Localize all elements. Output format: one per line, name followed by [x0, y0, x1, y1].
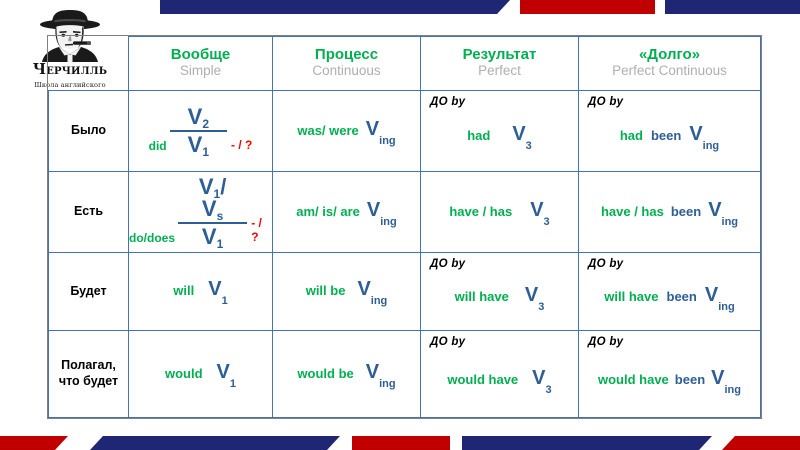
decorative-banner-bottom — [0, 436, 800, 450]
verb-sub-ing: ing — [703, 140, 720, 152]
cell-past-continuous: was/ were Ving — [273, 90, 421, 171]
by-marker: ДО by — [430, 258, 465, 270]
verb-v: V — [689, 123, 702, 145]
cell-present-perfect: have / has V3 — [421, 172, 579, 253]
header-cell-simple: Вообще Simple — [129, 37, 273, 91]
verb-v1: V — [188, 132, 203, 157]
cell-present-continuous: am/ is/ are Ving — [273, 172, 421, 253]
verb-v2: V — [188, 104, 203, 129]
verb-vs-sub: s — [217, 209, 224, 223]
aux-been: been — [667, 289, 697, 304]
cell-future-perfect: ДО by will have V3 — [421, 253, 579, 330]
header-ru-continuous: Процесс — [273, 47, 420, 63]
row-label-present: Есть — [49, 172, 129, 253]
by-marker: ДО by — [588, 258, 623, 270]
table-header-row: Вообще Simple Процесс Continuous Результ… — [49, 37, 761, 91]
aux-had: had — [620, 128, 643, 143]
by-marker: ДО by — [588, 336, 623, 348]
aux-would: would — [165, 366, 203, 381]
banner-band-red-2 — [0, 436, 68, 450]
banner-band-navy-4 — [462, 436, 712, 450]
header-ru-simple: Вообще — [129, 47, 272, 63]
cell-future-in-past-continuous: would be Ving — [273, 330, 421, 417]
banner-band-red-1 — [520, 0, 655, 14]
aux-been: been — [651, 128, 681, 143]
verb-v: V — [530, 199, 543, 221]
cell-past-simple: did V2 V1 - / ? — [129, 90, 273, 171]
verb-sub-ing: ing — [718, 301, 735, 313]
table-row: Будет will V1 will be Ving ДО by will ha… — [49, 253, 761, 330]
verb-sub-ing: ing — [379, 378, 396, 390]
aux-will-have: will have — [604, 289, 658, 304]
cell-future-simple: will V1 — [129, 253, 273, 330]
verb-sub-1: 1 — [230, 378, 236, 390]
header-en-perfect: Perfect — [421, 63, 578, 80]
cell-past-perfect: ДО by had V3 — [421, 90, 579, 171]
verb-v1-sub: 1 — [214, 187, 221, 201]
header-en-perfect-continuous: Perfect Continuous — [579, 63, 760, 80]
cell-present-simple: do/does V1/ Vs V1 - / ? — [129, 172, 273, 253]
aux-have-has: have / has — [601, 204, 664, 219]
verb-sub-3: 3 — [538, 301, 544, 313]
aux-been: been — [675, 372, 705, 387]
verb-v: V — [708, 199, 721, 221]
verb-v: V — [711, 367, 724, 389]
verb-v: V — [366, 361, 379, 383]
cell-present-perfect-continuous: have / has been Ving — [579, 172, 761, 253]
aux-will-have: will have — [455, 289, 509, 304]
verb-sub-ing: ing — [724, 384, 741, 396]
by-marker: ДО by — [430, 336, 465, 348]
neg-question-marker: - / ? — [251, 216, 272, 244]
aux-would-have: would have — [447, 372, 518, 387]
by-marker: ДО by — [588, 96, 623, 108]
cell-future-in-past-simple: would V1 — [129, 330, 273, 417]
neg-question-marker: - / ? — [231, 138, 252, 152]
table-row: Полагал, что будет would V1 would be Vin… — [49, 330, 761, 417]
verb-v: V — [367, 199, 380, 221]
cell-future-continuous: will be Ving — [273, 253, 421, 330]
verb-sub-ing: ing — [379, 135, 396, 147]
verb-v: V — [366, 118, 379, 140]
row-label-future: Будет — [49, 253, 129, 330]
tense-reference-table: Вообще Simple Процесс Continuous Результ… — [48, 36, 761, 418]
header-en-simple: Simple — [129, 63, 272, 80]
aux-would-be: would be — [297, 366, 353, 381]
verb-v: V — [525, 284, 538, 306]
cell-future-in-past-perfect: ДО by would have V3 — [421, 330, 579, 417]
banner-band-navy-2 — [665, 0, 800, 14]
verb-v: V — [357, 278, 370, 300]
banner-band-red-3 — [352, 436, 450, 450]
aux-been: been — [671, 204, 701, 219]
aux-am-is-are: am/ is/ are — [296, 204, 360, 219]
verb-sub-3: 3 — [526, 140, 532, 152]
verb-v: V — [532, 367, 545, 389]
aux-will: will — [173, 283, 194, 298]
verb-sub-1: 1 — [222, 295, 228, 307]
aux-was-were: was/ were — [297, 123, 358, 138]
header-ru-perfect: Результат — [421, 47, 578, 63]
verb-sub-ing: ing — [380, 216, 397, 228]
header-cell-perfect: Результат Perfect — [421, 37, 579, 91]
header-cell-continuous: Процесс Continuous — [273, 37, 421, 91]
cell-past-perfect-continuous: ДО by had been Ving — [579, 90, 761, 171]
verb-sub-3: 3 — [546, 384, 552, 396]
aux-had: had — [467, 128, 490, 143]
row-label-future-in-past: Полагал, что будет — [49, 330, 129, 417]
banner-band-navy-1 — [160, 0, 510, 14]
row-label-past: Было — [49, 90, 129, 171]
cell-future-perfect-continuous: ДО by will have been Ving — [579, 253, 761, 330]
verb-v1: V — [202, 224, 217, 249]
row-label-line1: Полагал, — [61, 358, 116, 372]
verb-sub-3: 3 — [544, 216, 550, 228]
banner-band-red-4 — [722, 436, 800, 450]
header-ru-perfect-continuous: «Долго» — [579, 47, 760, 63]
aux-did: did — [149, 139, 167, 153]
verb-v2-sub: 2 — [202, 117, 209, 131]
verb-v: V — [208, 278, 221, 300]
corner-cell — [49, 37, 129, 91]
by-marker: ДО by — [430, 96, 465, 108]
table-row: Было did V2 V1 - / ? was/ were — [49, 90, 761, 171]
verb-v1-sub: 1 — [217, 237, 224, 251]
verb-v: V — [512, 123, 525, 145]
aux-would-have: would have — [598, 372, 669, 387]
verb-v: V — [705, 284, 718, 306]
aux-will-be: will be — [306, 283, 346, 298]
row-label-line2: что будет — [59, 374, 118, 388]
verb-sub-ing: ing — [722, 216, 739, 228]
aux-do-does: do/does — [129, 231, 175, 245]
verb-v1-sub: 1 — [202, 145, 209, 159]
table-row: Есть do/does V1/ Vs V1 - / ? am/ is/ are — [49, 172, 761, 253]
verb-sub-ing: ing — [371, 295, 388, 307]
banner-band-navy-3 — [90, 436, 340, 450]
header-cell-perfect-continuous: «Долго» Perfect Continuous — [579, 37, 761, 91]
aux-have-has: have / has — [449, 204, 512, 219]
cell-future-in-past-perfect-continuous: ДО by would have been Ving — [579, 330, 761, 417]
header-en-continuous: Continuous — [273, 63, 420, 80]
verb-v: V — [217, 361, 230, 383]
